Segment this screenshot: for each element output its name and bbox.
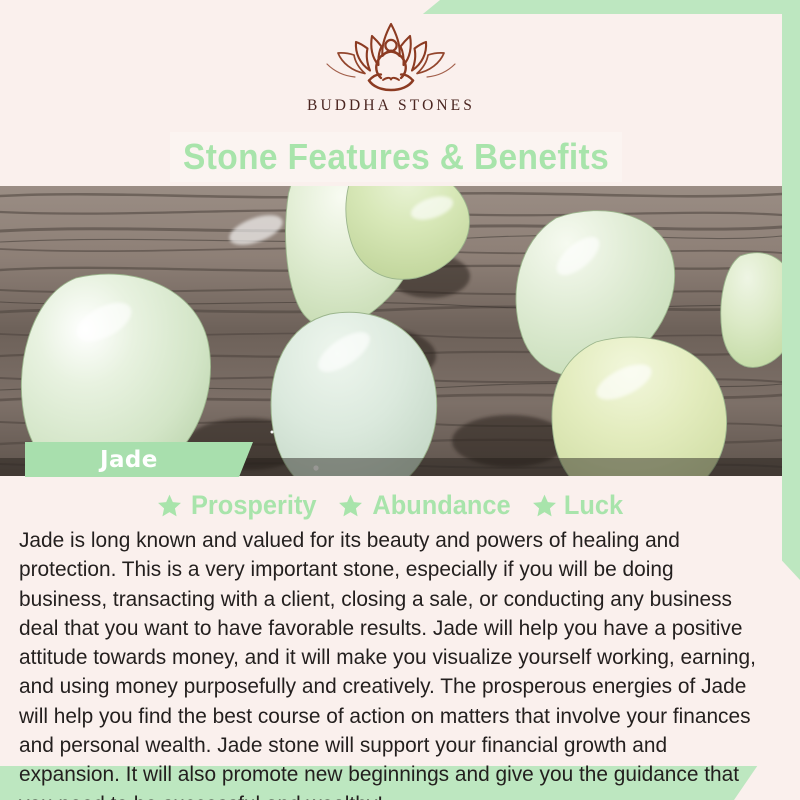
keyword-row: Prosperity Abundance Luck [0,492,782,519]
keyword-abundance: Abundance [338,492,515,519]
stone [721,253,782,368]
keyword-label: Abundance [372,492,510,519]
stone-photo [0,186,782,476]
star-icon [157,493,182,518]
keyword-label: Luck [564,492,623,519]
infographic-page: BUDDHA STONES Stone Features & Benefits [0,0,800,800]
stone-description: Jade is long known and valued for its be… [19,526,758,800]
keyword-prosperity: Prosperity [157,492,321,519]
page-title: Stone Features & Benefits [183,139,609,175]
content-card: BUDDHA STONES Stone Features & Benefits [0,14,782,766]
brand-header: BUDDHA STONES [0,20,782,115]
keyword-label: Prosperity [191,492,317,519]
keyword-luck: Luck [532,492,625,519]
star-icon [532,493,557,518]
brand-name: BUDDHA STONES [307,97,475,115]
stone-name: Jade [100,447,158,473]
star-icon [338,493,363,518]
headline-banner: Stone Features & Benefits [170,132,622,182]
lotus-meditation-icon [317,20,465,94]
stone-photo-illustration [0,186,782,476]
stone-name-bar: Jade [25,442,253,477]
